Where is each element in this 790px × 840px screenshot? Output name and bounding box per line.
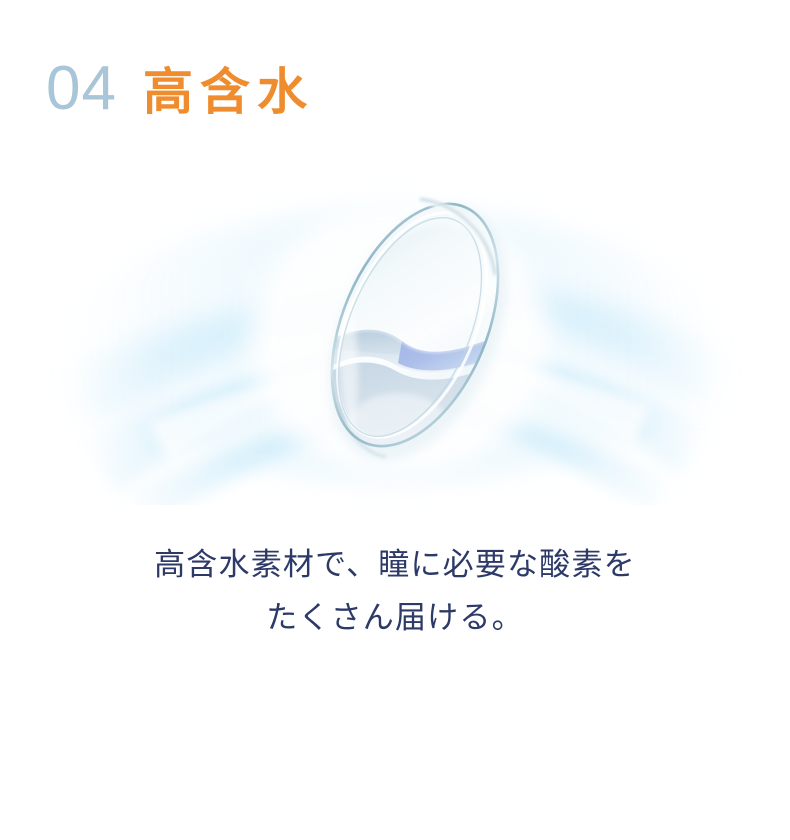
step-number: 04 (46, 58, 117, 120)
contact-lens-icon (0, 175, 790, 505)
caption-line-2: たくさん届ける。 (0, 591, 790, 644)
caption-line-1: 高含水素材で、瞳に必要な酸素を (0, 538, 790, 591)
page-title: 高含水 (143, 67, 314, 117)
hero-figure (0, 175, 790, 505)
caption-block: 高含水素材で、瞳に必要な酸素を たくさん届ける。 (0, 538, 790, 645)
page-root: 04 高含水 (0, 0, 790, 840)
section-header: 04 高含水 (46, 58, 314, 120)
